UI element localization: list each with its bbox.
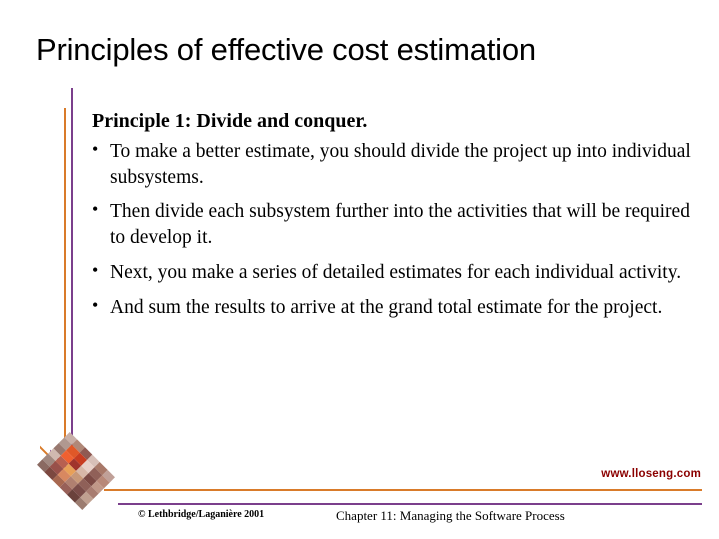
list-item-text: And sum the results to arrive at the gra… — [110, 297, 662, 318]
decorative-horizontal-line-orange — [104, 489, 702, 491]
footer-copyright: © Lethbridge/Laganière 2001 — [138, 509, 264, 520]
footer-chapter: Chapter 11: Managing the Software Proces… — [336, 508, 565, 524]
decorative-vertical-line-purple — [71, 88, 73, 446]
bullet-list: • To make a better estimate, you should … — [92, 139, 692, 320]
list-item: • And sum the results to arrive at the g… — [92, 295, 692, 321]
list-item: • To make a better estimate, you should … — [92, 139, 692, 190]
slide: Principles of effective cost estimation … — [0, 0, 719, 539]
bullet-icon: • — [92, 294, 98, 318]
bullet-icon: • — [92, 259, 98, 283]
decorative-vertical-line-orange — [64, 108, 66, 438]
list-item: • Then divide each subsystem further int… — [92, 199, 692, 250]
list-item-text: Next, you make a series of detailed esti… — [110, 262, 681, 283]
bullet-icon: • — [92, 198, 98, 222]
list-item-text: Then divide each subsystem further into … — [110, 201, 690, 248]
list-item: • Next, you make a series of detailed es… — [92, 260, 692, 286]
page-title: Principles of effective cost estimation — [36, 32, 536, 68]
principle-heading: Principle 1: Divide and conquer. — [92, 110, 692, 133]
footer-url[interactable]: www.lloseng.com — [601, 468, 701, 480]
decorative-horizontal-line-purple — [118, 503, 702, 505]
list-item-text: To make a better estimate, you should di… — [110, 141, 691, 188]
slide-body: Principle 1: Divide and conquer. • To ma… — [92, 110, 692, 329]
bullet-icon: • — [92, 138, 98, 162]
